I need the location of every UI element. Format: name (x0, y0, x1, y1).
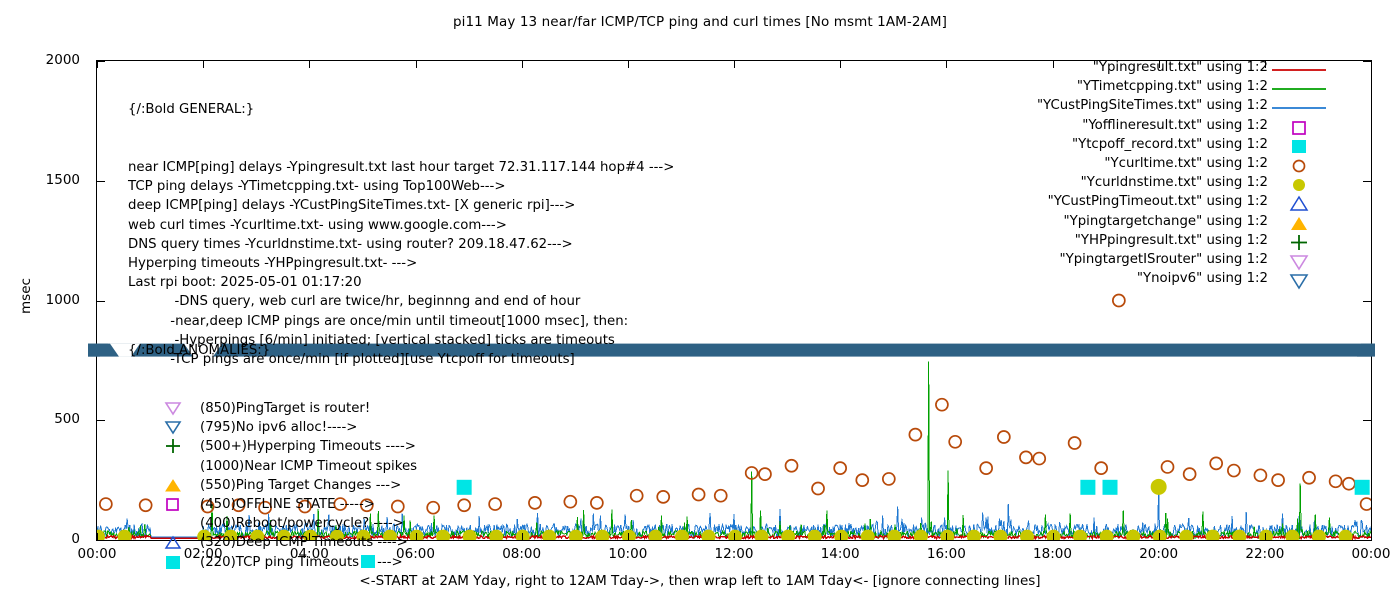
curl-time-point (100, 498, 112, 510)
dns-time-point (1020, 530, 1034, 540)
curl-time-point (427, 502, 439, 514)
x-tick-top (1053, 60, 1054, 68)
curl-time-point (949, 436, 961, 448)
square-filled-icon (1270, 137, 1330, 156)
anomaly-annotations: {/:Bold ANOMALIES:} (850)PingTarget is r… (128, 303, 417, 610)
dns-time-point (1179, 530, 1193, 540)
line-sample-icon (1270, 98, 1330, 117)
dns-time-point (834, 530, 848, 540)
tcp-timeout-point (1355, 480, 1370, 495)
x-tick-label: 10:00 (588, 546, 668, 562)
curl-time-point (715, 490, 727, 502)
legend-item[interactable]: "Ypingtargetchange" using 1:2 (930, 214, 1330, 233)
dns-time-point (940, 530, 954, 540)
y-tick-right (1363, 181, 1372, 182)
curl-time-point (759, 468, 771, 480)
legend-item[interactable]: "Ycurldnstime.txt" using 1:2 (930, 175, 1330, 194)
y-tick-label: 2000 (20, 52, 80, 68)
dns-time-point (914, 530, 928, 540)
x-tick-top (416, 60, 417, 68)
dns-time-point (781, 530, 795, 540)
curl-time-point (746, 467, 758, 479)
x-tick-label: 16:00 (906, 546, 986, 562)
y-tick (96, 420, 105, 421)
y-tick (96, 181, 105, 182)
legend-item[interactable]: "Ypingresult.txt" using 1:2 (930, 60, 1330, 79)
x-tick-top (1159, 60, 1160, 68)
legend-label: "YCustPingSiteTimes.txt" using 1:2 (1037, 98, 1268, 113)
curl-time-point (1113, 295, 1125, 307)
y-tick-label: 500 (20, 411, 80, 427)
curl-time-point (980, 462, 992, 474)
legend-item[interactable]: "YCustPingSiteTimes.txt" using 1:2 (930, 98, 1330, 117)
curl-time-point (458, 499, 470, 511)
x-tick-label: 14:00 (800, 546, 880, 562)
curl-time-point (1020, 451, 1032, 463)
general-line: Hyperping timeouts -YHPpingresult.txt- -… (128, 254, 674, 273)
curl-time-point (489, 498, 501, 510)
x-tick (203, 533, 204, 541)
x-tick-top (1265, 60, 1266, 68)
dns-time-point (489, 530, 503, 540)
x-tick-top (97, 60, 98, 68)
anomaly-label: (550)Ping Target Changes ---> (200, 478, 401, 493)
x-tick-label: 00:00 (57, 546, 137, 562)
x-tick-top (203, 60, 204, 68)
dns-time-point (887, 530, 901, 540)
dns-time-point (648, 530, 662, 540)
legend-item[interactable]: "YCustPingTimeout.txt" using 1:2 (930, 194, 1330, 213)
curl-time-point (693, 488, 705, 500)
x-tick-top (946, 60, 947, 68)
dns-time-point (1206, 530, 1220, 540)
plus-icon (1270, 233, 1330, 252)
anomaly-item: (850)PingTarget is router! (200, 399, 417, 418)
curl-time-point (1361, 498, 1371, 510)
dns-time-point (463, 530, 477, 540)
tcp-timeout-point (1080, 480, 1095, 495)
curl-time-point (564, 496, 576, 508)
legend-label: "Ycurltime.txt" using 1:2 (1104, 156, 1268, 171)
dns-time-point (1312, 530, 1326, 540)
anomaly-label: (500+)Hyperping Timeouts ----> (200, 439, 416, 454)
x-tick (416, 533, 417, 541)
y-tick-right (1363, 420, 1372, 421)
curl-time-point (631, 490, 643, 502)
x-tick (522, 533, 523, 541)
x-tick (628, 533, 629, 541)
dns-time-point (1153, 530, 1167, 540)
square-open-icon (164, 495, 194, 514)
dns-time-point (1100, 530, 1114, 540)
dns-time-point (755, 530, 769, 540)
general-line: DNS query times -Ycurldnstime.txt- using… (128, 235, 674, 254)
general-heading: {/:Bold GENERAL:} (128, 100, 674, 119)
x-tick (97, 533, 98, 541)
legend-label: "Yofflineresult.txt" using 1:2 (1082, 118, 1268, 133)
line-sample-icon (1270, 79, 1330, 98)
dns-time-point (967, 530, 981, 540)
anomaly-label: (400)Reboot/powercycle? ----> (200, 516, 404, 531)
triangle-down-icon (164, 418, 194, 437)
legend-item[interactable]: "YpingtargetISrouter" using 1:2 (930, 252, 1330, 271)
legend-label: "Ynoipv6" using 1:2 (1137, 271, 1268, 286)
x-tick-label: 00:00 (1331, 546, 1400, 562)
dns-time-point (808, 530, 822, 540)
triangle-up-filled-icon (1270, 214, 1330, 233)
dns-time-point (595, 530, 609, 540)
anomaly-label: (450)OFFLINE STATE -----> (200, 497, 375, 512)
x-tick-top (1371, 60, 1372, 68)
curl-time-point (529, 497, 541, 509)
tcp-timeout-point (457, 480, 472, 495)
anomaly-item: (500+)Hyperping Timeouts ----> (200, 437, 417, 456)
anomaly-label: (1000)Near ICMP Timeout spikes (200, 459, 417, 474)
x-axis-caption: <-START at 2AM Yday, right to 12AM Tday-… (0, 573, 1400, 589)
tcp-timeout-point (1103, 480, 1118, 495)
dns-time-point (1126, 530, 1140, 540)
curl-time-point (1228, 465, 1240, 477)
no-icon (164, 514, 194, 533)
triangle-up-open-icon (1270, 194, 1330, 213)
x-tick (1053, 533, 1054, 541)
curl-time-point (1254, 469, 1266, 481)
x-tick (734, 533, 735, 541)
curl-time-point (812, 483, 824, 495)
dns-time-point (702, 530, 716, 540)
x-tick (1371, 533, 1372, 541)
legend-label: "Ypingtargetchange" using 1:2 (1064, 214, 1269, 229)
curl-time-point (936, 399, 948, 411)
triangle-down-open-icon (1270, 271, 1330, 290)
x-tick (309, 533, 310, 541)
y-tick (96, 301, 105, 302)
legend-label: "Ypingresult.txt" using 1:2 (1093, 60, 1268, 75)
anomaly-item: (1000)Near ICMP Timeout spikes (200, 457, 417, 476)
general-line: web curl times -Ycurltime.txt- using www… (128, 216, 674, 235)
chart-title: pi11 May 13 near/far ICMP/TCP ping and c… (0, 14, 1400, 30)
x-tick-label: 04:00 (269, 546, 349, 562)
y-tick-label: 1000 (20, 292, 80, 308)
x-tick-label: 22:00 (1225, 546, 1305, 562)
dns-time-point (569, 530, 583, 540)
legend-item[interactable]: "Ycurltime.txt" using 1:2 (930, 156, 1330, 175)
x-tick-top (734, 60, 735, 68)
legend-item[interactable]: "Ynoipv6" using 1:2 (930, 271, 1330, 290)
legend: "Ypingresult.txt" using 1:2"YTimetcpping… (930, 60, 1330, 290)
x-tick (946, 533, 947, 541)
dns-time-point (1232, 530, 1246, 540)
x-tick-label: 08:00 (482, 546, 562, 562)
dns-time-point (861, 530, 875, 540)
curl-time-point (834, 462, 846, 474)
dns-time-point (1073, 530, 1087, 540)
anomaly-item: (795)No ipv6 alloc!----> (200, 418, 417, 437)
anomaly-item: (450)OFFLINE STATE -----> (200, 495, 417, 514)
line-sample-icon (1270, 60, 1330, 79)
curl-time-point (1343, 478, 1355, 490)
dns-time-point (993, 530, 1007, 540)
dns-time-point (542, 530, 556, 540)
legend-item[interactable]: "YHPpingresult.txt" using 1:2 (930, 233, 1330, 252)
x-tick-label: 06:00 (376, 546, 456, 562)
general-line: TCP ping delays -YTimetcpping.txt- using… (128, 177, 674, 196)
curl-time-point (1033, 453, 1045, 465)
dns-time-point (622, 530, 636, 540)
x-tick-top (309, 60, 310, 68)
curl-time-point (1330, 475, 1342, 487)
curl-time-point (1095, 462, 1107, 474)
general-line: deep ICMP[ping] delays -YCustPingSiteTim… (128, 196, 674, 215)
legend-label: "Ycurldnstime.txt" using 1:2 (1081, 175, 1268, 190)
triangle-down-open-icon (1270, 252, 1330, 271)
dns-time-point (1047, 530, 1061, 540)
dns-time-point (675, 530, 689, 540)
x-tick (840, 533, 841, 541)
legend-item[interactable]: "YTimetcpping.txt" using 1:2 (930, 79, 1330, 98)
general-line: near ICMP[ping] delays -Ypingresult.txt … (128, 158, 674, 177)
curl-time-point (998, 431, 1010, 443)
circle-open-icon (1270, 156, 1330, 175)
legend-label: "YTimetcpping.txt" using 1:2 (1077, 79, 1268, 94)
curl-time-point (1303, 472, 1315, 484)
curl-time-point (1184, 468, 1196, 480)
curl-time-point (1272, 474, 1284, 486)
dns-time-point (1339, 530, 1353, 540)
x-tick-top (522, 60, 523, 68)
dns-time-point (516, 530, 530, 540)
curl-time-point (786, 460, 798, 472)
curl-time-point (1069, 437, 1081, 449)
triangle-up-filled-icon (164, 476, 194, 495)
anomaly-item: (550)Ping Target Changes ---> (200, 476, 417, 495)
curl-time-point (657, 491, 669, 503)
curl-time-point (856, 474, 868, 486)
legend-label: "YCustPingTimeout.txt" using 1:2 (1048, 194, 1268, 209)
general-line: Last rpi boot: 2025-05-01 01:17:20 (128, 273, 674, 292)
x-tick (1265, 533, 1266, 541)
curl-time-point (883, 473, 895, 485)
anomaly-item: (400)Reboot/powercycle? ----> (200, 514, 417, 533)
circle-filled-icon (1270, 175, 1330, 194)
x-tick (1159, 533, 1160, 541)
dns-time-point (97, 530, 105, 540)
curl-time-point (1162, 461, 1174, 473)
anomalies-heading: {/:Bold ANOMALIES:} (128, 341, 417, 360)
dns-time-point (1285, 530, 1299, 540)
legend-label: "YpingtargetISrouter" using 1:2 (1059, 252, 1268, 267)
x-tick-label: 12:00 (694, 546, 774, 562)
plus-icon (164, 437, 194, 456)
x-tick-label: 18:00 (1013, 546, 1093, 562)
legend-item[interactable]: "Ytcpoff_record.txt" using 1:2 (930, 137, 1330, 156)
y-tick-label: 0 (20, 531, 80, 547)
square-open-icon (1270, 118, 1330, 137)
no-icon (164, 457, 194, 476)
x-tick-label: 02:00 (163, 546, 243, 562)
dns-time-point (728, 530, 742, 540)
y-tick-right (1363, 301, 1372, 302)
curl-time-point (591, 497, 603, 509)
legend-label: "Ytcpoff_record.txt" using 1:2 (1072, 137, 1268, 152)
x-tick-label: 20:00 (1119, 546, 1199, 562)
curl-time-point (1210, 457, 1222, 469)
dns-time-point (436, 530, 450, 540)
triangle-down-icon (164, 399, 194, 418)
legend-label: "YHPpingresult.txt" using 1:2 (1075, 233, 1268, 248)
legend-item[interactable]: "Yofflineresult.txt" using 1:2 (930, 118, 1330, 137)
dns-time-point (1259, 530, 1273, 540)
x-tick-top (628, 60, 629, 68)
dns-time-point (1151, 479, 1167, 495)
y-tick-label: 1500 (20, 172, 80, 188)
x-tick-top (840, 60, 841, 68)
anomaly-label: (795)No ipv6 alloc!----> (200, 420, 357, 435)
anomaly-label: (850)PingTarget is router! (200, 401, 370, 416)
curl-time-point (909, 429, 921, 441)
